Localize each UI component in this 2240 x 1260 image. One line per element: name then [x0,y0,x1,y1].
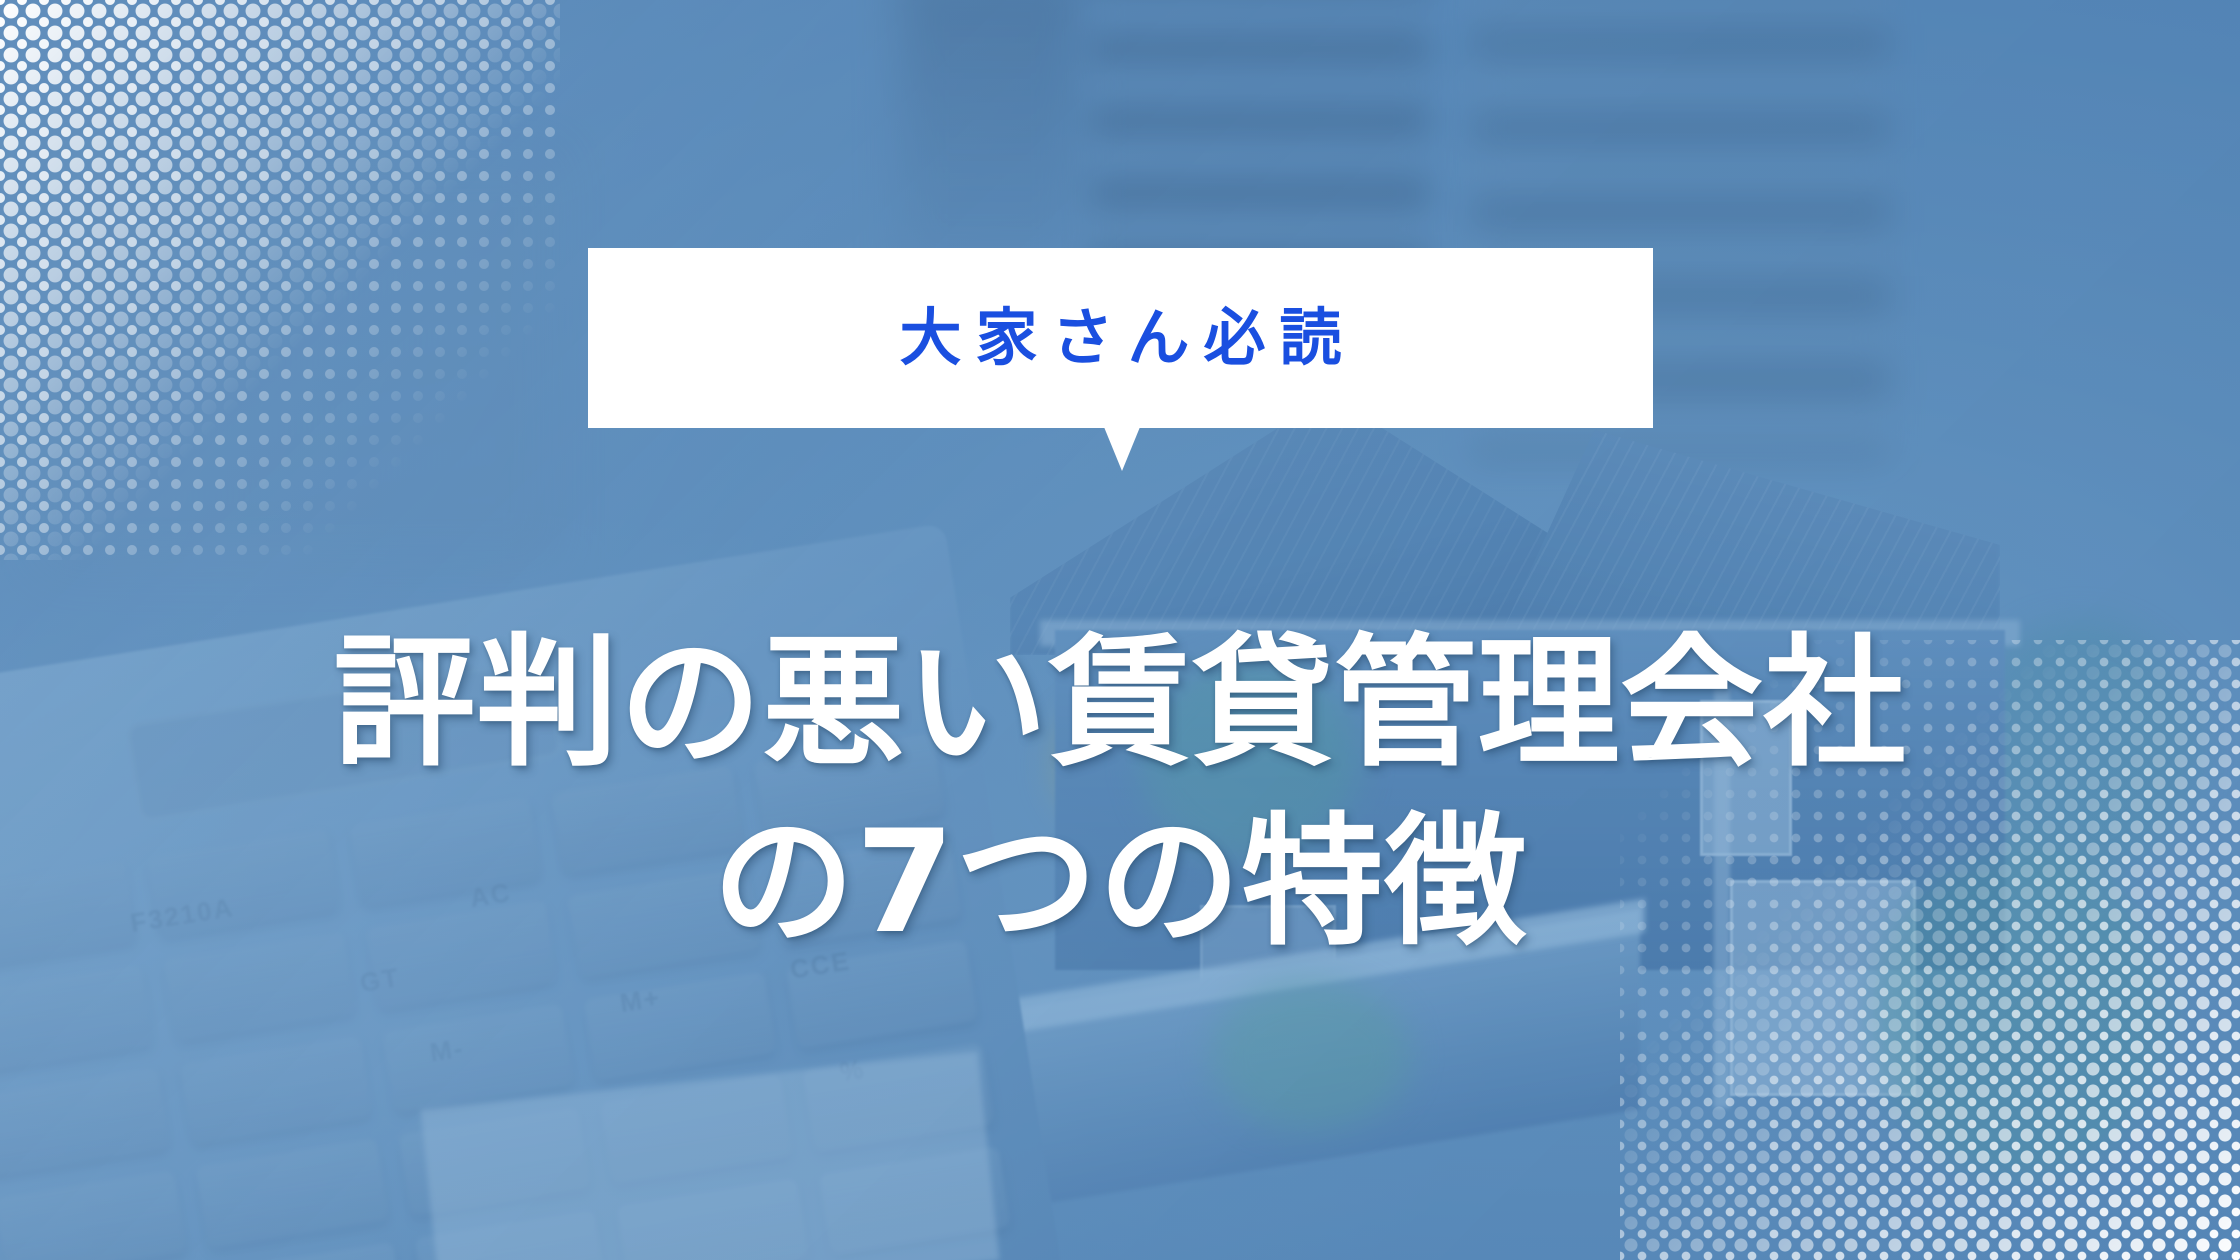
hero-banner: F3210A GT M+ M- CCE % AC 大家さん必読 評判の悪い賃貸管… [0,0,2240,1260]
calculator-key-label-mminus: M- [428,1033,467,1069]
badge-label: 大家さん必読 [885,307,1355,369]
calculator-key [0,1067,171,1177]
page-title-line-2: の7つの特徴 [0,794,2240,973]
calculator-key [180,1035,373,1145]
page-title-line-1: 評判の悪い賃貸管理会社 [0,615,2240,794]
page-title: 評判の悪い賃貸管理会社 の7つの特徴 [0,615,2240,973]
calculator-key [196,1138,389,1248]
calculator-key [212,1241,405,1260]
calculator-key [0,1170,187,1260]
badge-speech-bubble: 大家さん必読 [588,248,1653,428]
background-greenery [1210,980,1410,1130]
calculator-key [0,964,154,1074]
background-building-center [900,0,1080,270]
background-building-left [40,150,560,570]
calculator-key-label-mplus: M+ [618,982,663,1019]
calculator-key [583,971,776,1081]
badge-tail-icon [1104,427,1140,471]
